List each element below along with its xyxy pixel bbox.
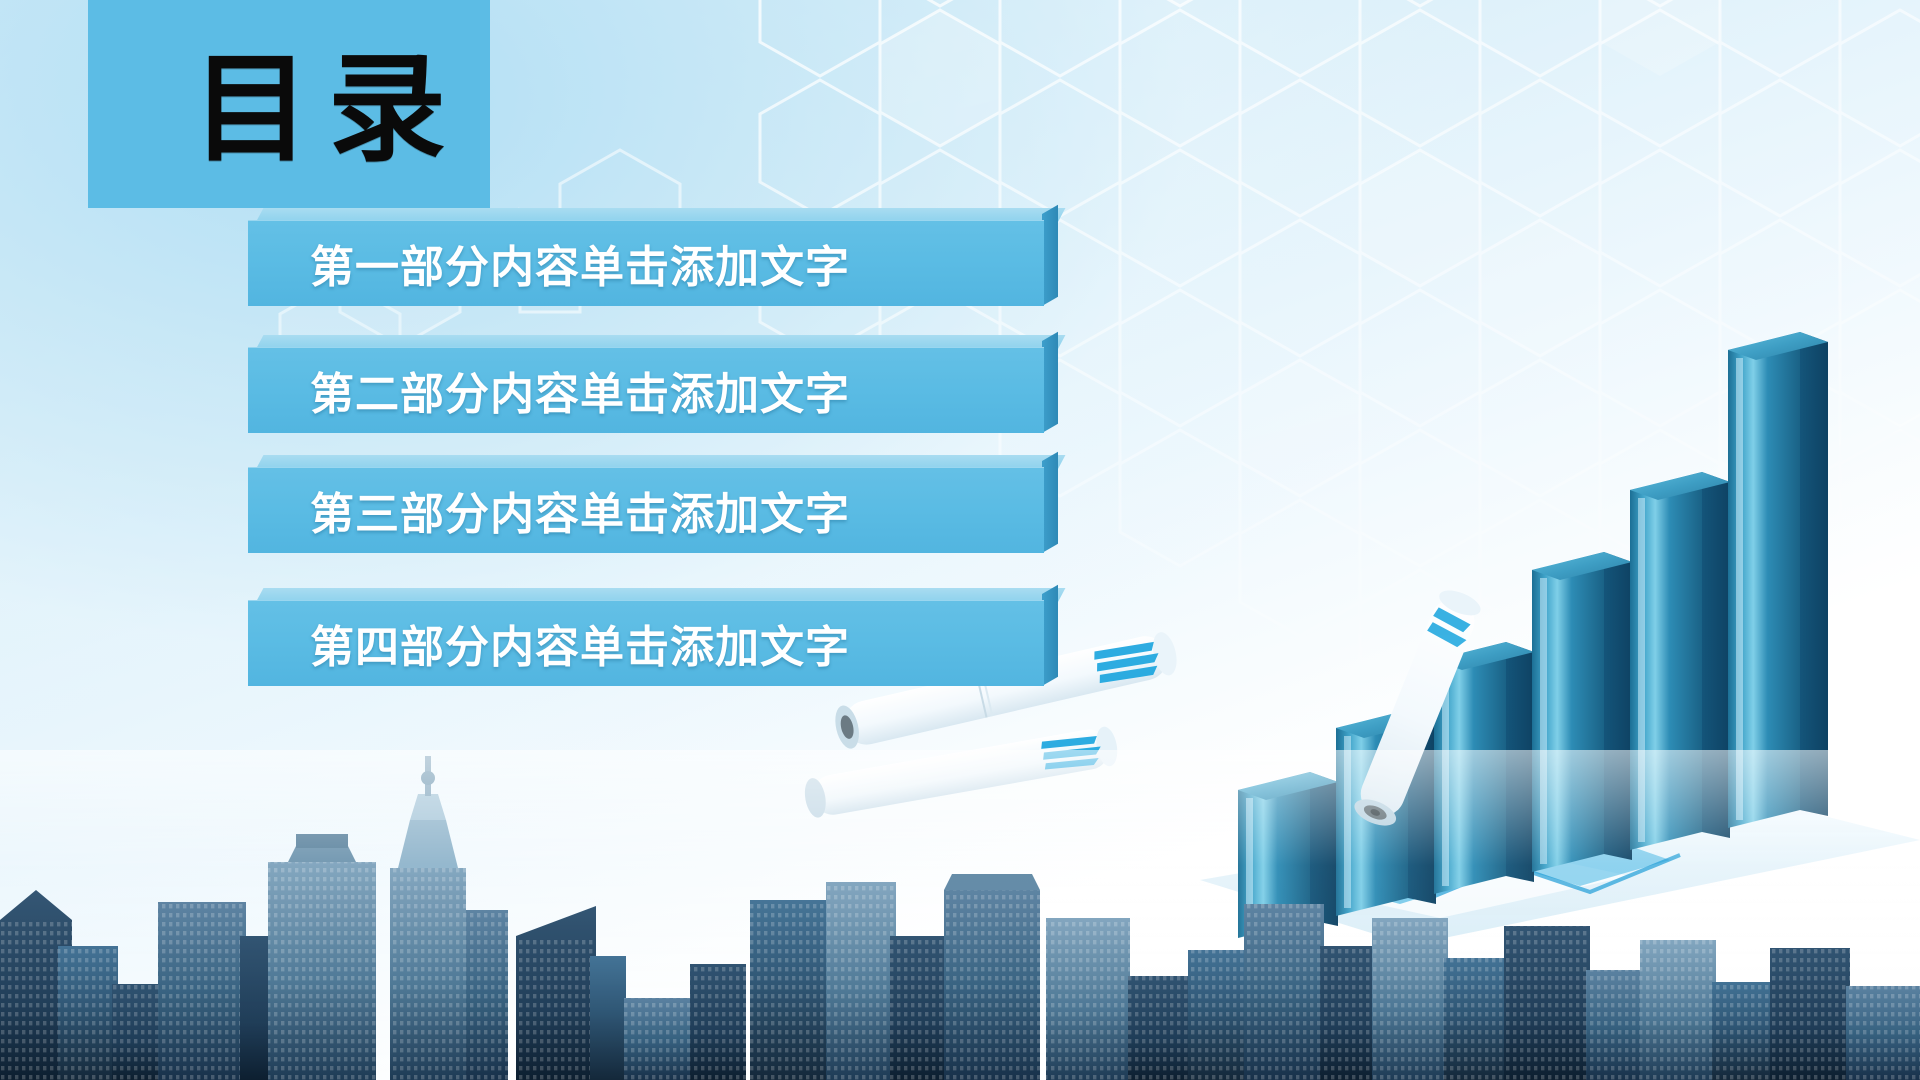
toc-item-3[interactable]: 第三部分内容单击添加文字 bbox=[248, 455, 1058, 553]
toc-item-1-body[interactable]: 第一部分内容单击添加文字 bbox=[248, 220, 1044, 306]
presentation-slide: 目录 第一部分内容单击添加文字 第二部分内容单击添加文字 第三部分内容单击添加文… bbox=[0, 0, 1920, 1080]
toc-item-2-body[interactable]: 第二部分内容单击添加文字 bbox=[248, 347, 1044, 433]
toc-item-3-side-bevel bbox=[1042, 452, 1058, 553]
toc-item-3-body[interactable]: 第三部分内容单击添加文字 bbox=[248, 467, 1044, 553]
toc-item-3-label: 第三部分内容单击添加文字 bbox=[310, 478, 850, 542]
toc-item-1-side-bevel bbox=[1042, 205, 1058, 306]
toc-item-4[interactable]: 第四部分内容单击添加文字 bbox=[248, 588, 1058, 686]
toc-item-1-label: 第一部分内容单击添加文字 bbox=[310, 231, 850, 295]
toc-item-2-label: 第二部分内容单击添加文字 bbox=[310, 358, 850, 422]
toc-item-4-label: 第四部分内容单击添加文字 bbox=[310, 611, 850, 675]
toc-item-2-side-bevel bbox=[1042, 332, 1058, 433]
toc-item-2[interactable]: 第二部分内容单击添加文字 bbox=[248, 335, 1058, 433]
toc-item-4-side-bevel bbox=[1042, 585, 1058, 686]
table-of-contents-list: 第一部分内容单击添加文字 第二部分内容单击添加文字 第三部分内容单击添加文字 第… bbox=[0, 0, 1920, 1080]
toc-item-1[interactable]: 第一部分内容单击添加文字 bbox=[248, 208, 1058, 306]
toc-item-4-body[interactable]: 第四部分内容单击添加文字 bbox=[248, 600, 1044, 686]
